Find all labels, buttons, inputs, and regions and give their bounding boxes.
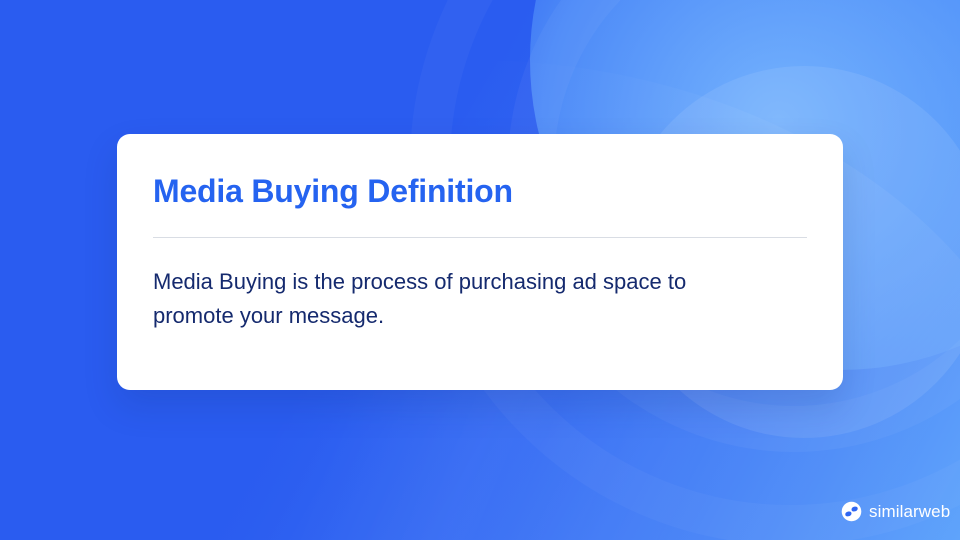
card-body-text: Media Buying is the process of purchasin… xyxy=(153,238,723,333)
similarweb-logo-text: similarweb xyxy=(869,503,950,520)
similarweb-s-mark-icon xyxy=(841,501,862,522)
card-title: Media Buying Definition xyxy=(153,174,807,209)
similarweb-logo: similarweb xyxy=(841,501,950,522)
slide-canvas: Media Buying Definition Media Buying is … xyxy=(0,0,960,540)
definition-card: Media Buying Definition Media Buying is … xyxy=(117,134,843,390)
